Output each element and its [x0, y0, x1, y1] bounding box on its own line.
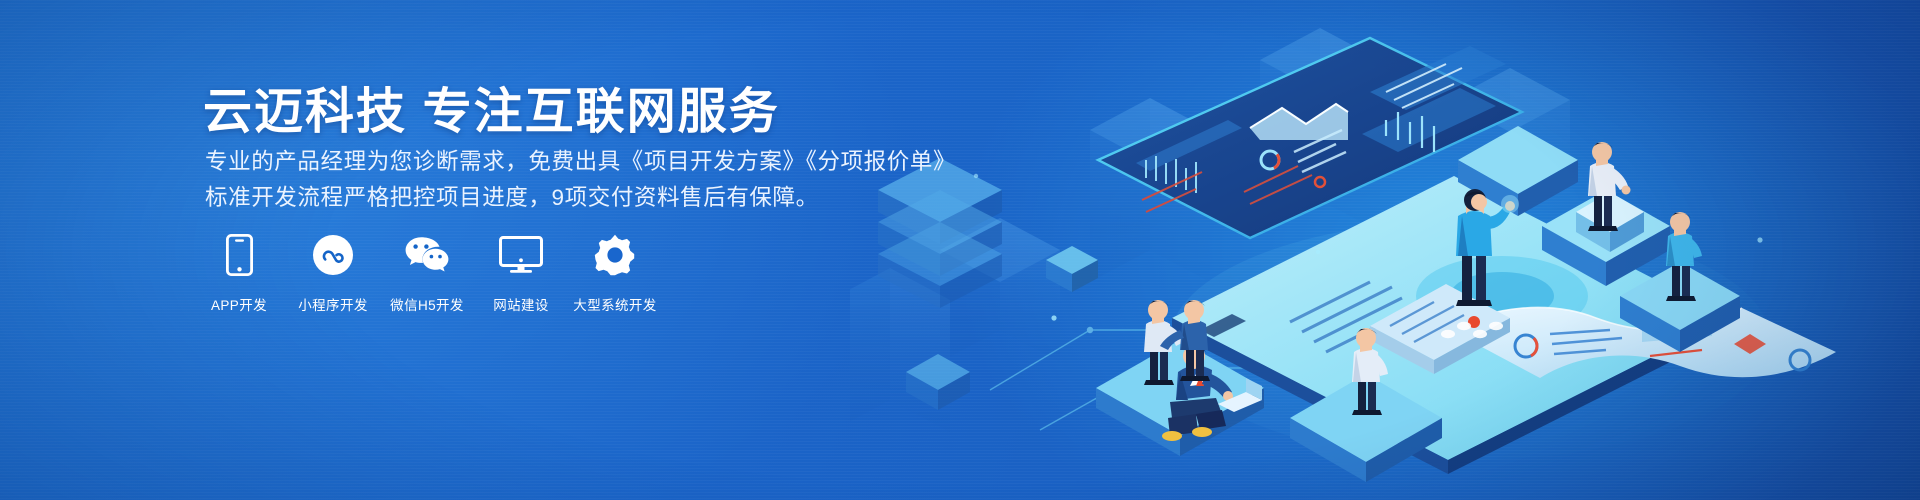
monitor-icon [499, 232, 543, 278]
gear-icon [594, 232, 636, 278]
service-label: APP开发 [211, 294, 267, 314]
banner-subtitle-line1: 专业的产品经理为您诊断需求，免费出具《项目开发方案》《分项报价单》 [205, 144, 956, 176]
service-item-large-system[interactable]: 大型系统开发 [579, 232, 651, 314]
banner-headline: 云迈科技 专注互联网服务 [203, 72, 780, 143]
service-icon-row: APP开发 小程序开发 [203, 232, 651, 314]
service-item-website[interactable]: 网站建设 [485, 232, 557, 314]
service-label: 网站建设 [493, 294, 549, 314]
isometric-illustration [850, 0, 1920, 500]
mini-program-icon [312, 232, 354, 278]
banner-subtitle-line2: 标准开发流程严格把控项目进度，9项交付资料售后有保障。 [205, 180, 819, 212]
hero-banner: 云迈科技 专注互联网服务 专业的产品经理为您诊断需求，免费出具《项目开发方案》《… [0, 0, 1920, 500]
service-label: 微信H5开发 [390, 294, 464, 314]
service-label: 小程序开发 [298, 294, 368, 314]
service-item-wechat-h5[interactable]: 微信H5开发 [391, 232, 463, 314]
wechat-icon [404, 232, 450, 278]
service-item-miniprogram[interactable]: 小程序开发 [297, 232, 369, 314]
mobile-phone-icon [226, 232, 253, 278]
service-item-app[interactable]: APP开发 [203, 232, 275, 314]
banner-content: 云迈科技 专注互联网服务 专业的产品经理为您诊断需求，免费出具《项目开发方案》《… [203, 0, 963, 500]
service-label: 大型系统开发 [573, 294, 656, 314]
